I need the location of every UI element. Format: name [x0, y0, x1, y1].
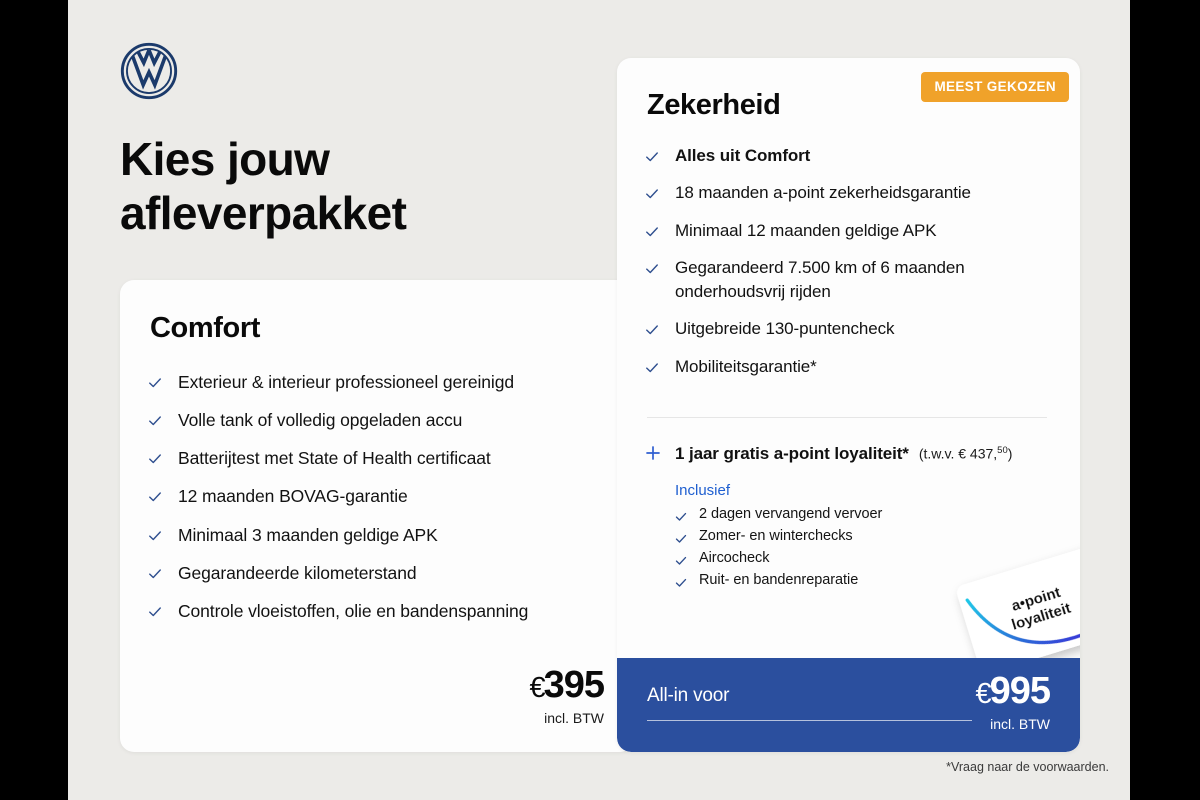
list-item: Gegarandeerd 7.500 km of 6 maanden onder…: [645, 256, 1065, 303]
list-item-label: Minimaal 12 maanden geldige APK: [675, 219, 937, 242]
check-icon: [645, 323, 659, 337]
loyalty-value-prefix: (t.w.v. € 437,: [919, 446, 997, 462]
zekerheid-card-title: Zekerheid: [647, 89, 780, 122]
page-title: Kies jouw afleverpakket: [120, 133, 620, 241]
check-icon: [645, 150, 659, 164]
allin-label: All-in voor: [647, 685, 729, 707]
status-badge: MEEST GEKOZEN: [921, 72, 1069, 102]
list-item-label: 18 maanden a-point zekerheidsgarantie: [675, 181, 971, 204]
check-icon: [645, 361, 659, 375]
list-item-label: Zomer- en winterchecks: [699, 528, 853, 544]
list-item: 12 maanden BOVAG-garantie: [148, 484, 598, 508]
list-item: Mobiliteitsgarantie*: [645, 355, 1065, 378]
loyalty-inclusions-list: 2 dagen vervangend vervoer Zomer- en win…: [675, 506, 1065, 588]
price-amount: 995: [990, 670, 1050, 712]
list-item-label: Mobiliteitsgarantie*: [675, 355, 817, 378]
list-item-label: Exterieur & interieur professioneel gere…: [178, 370, 514, 394]
inclusief-label: Inclusief: [675, 482, 1065, 499]
list-item: Zomer- en winterchecks: [675, 528, 1065, 544]
loyalty-addon-section: 1 jaar gratis a-point loyaliteit* (t.w.v…: [645, 443, 1065, 594]
zekerheid-feature-list: Alles uit Comfort 18 maanden a-point zek…: [645, 144, 1065, 392]
list-item-label: Minimaal 3 maanden geldige APK: [178, 523, 438, 547]
list-item: Batterijtest met State of Health certifi…: [148, 446, 598, 470]
check-icon: [148, 605, 162, 619]
list-item: Volle tank of volledig opgeladen accu: [148, 408, 598, 432]
comfort-card-title: Comfort: [150, 312, 260, 345]
allin-divider: [647, 720, 972, 721]
loyalty-addon-value: (t.w.v. € 437,50): [919, 445, 1013, 462]
list-item-label: Ruit- en bandenreparatie: [699, 572, 858, 588]
price-amount: 395: [544, 664, 604, 706]
list-item-label: Gegarandeerd 7.500 km of 6 maanden onder…: [675, 256, 1065, 303]
comfort-price-note: incl. BTW: [529, 710, 604, 726]
list-item-label: 2 dagen vervangend vervoer: [699, 506, 882, 522]
list-item: Controle vloeistoffen, olie en bandenspa…: [148, 599, 598, 623]
check-icon: [148, 529, 162, 543]
screenshot-canvas: Kies jouw afleverpakket Comfort Exterieu…: [0, 0, 1200, 800]
list-item: Minimaal 3 maanden geldige APK: [148, 523, 598, 547]
list-item: Gegarandeerde kilometerstand: [148, 561, 598, 585]
check-icon: [645, 225, 659, 239]
list-item-label: Volle tank of volledig opgeladen accu: [178, 408, 462, 432]
plus-icon: [645, 445, 661, 461]
list-item-label: Gegarandeerde kilometerstand: [178, 561, 416, 585]
check-icon: [645, 262, 659, 276]
list-item-label: Aircocheck: [699, 550, 769, 566]
headline-line-2: afleverpakket: [120, 187, 620, 241]
section-divider: [647, 417, 1047, 418]
package-card-zekerheid[interactable]: MEEST GEKOZEN Zekerheid Alles uit Comfor…: [617, 58, 1080, 752]
list-item: Alles uit Comfort: [645, 144, 1065, 167]
list-item: Exterieur & interieur professioneel gere…: [148, 370, 598, 394]
allin-price-note: incl. BTW: [975, 716, 1050, 732]
check-icon: [148, 490, 162, 504]
currency-symbol: €: [529, 672, 544, 704]
list-item-label: Uitgebreide 130-puntencheck: [675, 317, 894, 340]
list-item: Aircocheck: [675, 550, 1065, 566]
loyalty-value-suffix: ): [1008, 446, 1013, 462]
check-icon: [675, 510, 687, 522]
check-icon: [675, 576, 687, 588]
loyalty-addon-title: 1 jaar gratis a-point loyaliteit*: [675, 444, 909, 464]
list-item: Minimaal 12 maanden geldige APK: [645, 219, 1065, 242]
currency-symbol: €: [975, 678, 990, 710]
list-item: 2 dagen vervangend vervoer: [675, 506, 1065, 522]
comfort-price: €395: [529, 666, 604, 704]
list-item-label: Alles uit Comfort: [675, 144, 810, 167]
check-icon: [148, 567, 162, 581]
footnote-text: *Vraag naar de voorwaarden.: [946, 760, 1109, 774]
list-item: Ruit- en bandenreparatie: [675, 572, 1065, 588]
check-icon: [148, 452, 162, 466]
comfort-price-block: €395 incl. BTW: [529, 666, 604, 726]
check-icon: [148, 376, 162, 390]
list-item-label: Batterijtest met State of Health certifi…: [178, 446, 491, 470]
check-icon: [148, 414, 162, 428]
package-card-comfort[interactable]: Comfort Exterieur & interieur profession…: [120, 280, 634, 752]
allin-price: €995: [975, 672, 1050, 710]
allin-price-bar: All-in voor €995 incl. BTW: [617, 658, 1080, 752]
check-icon: [675, 554, 687, 566]
loyalty-addon-header: 1 jaar gratis a-point loyaliteit* (t.w.v…: [645, 443, 1065, 464]
list-item: 18 maanden a-point zekerheidsgarantie: [645, 181, 1065, 204]
list-item: Uitgebreide 130-puntencheck: [645, 317, 1065, 340]
check-icon: [675, 532, 687, 544]
loyalty-card-line2: loyaliteit: [1010, 600, 1073, 634]
comfort-feature-list: Exterieur & interieur professioneel gere…: [148, 370, 598, 637]
list-item-label: 12 maanden BOVAG-garantie: [178, 484, 408, 508]
content-stage: Kies jouw afleverpakket Comfort Exterieu…: [68, 0, 1130, 800]
check-icon: [645, 187, 659, 201]
allin-price-block: €995 incl. BTW: [975, 672, 1050, 732]
list-item-label: Controle vloeistoffen, olie en bandenspa…: [178, 599, 528, 623]
headline-line-1: Kies jouw: [120, 133, 620, 187]
volkswagen-logo-icon: [120, 42, 178, 100]
loyalty-value-cents: 50: [997, 445, 1008, 456]
